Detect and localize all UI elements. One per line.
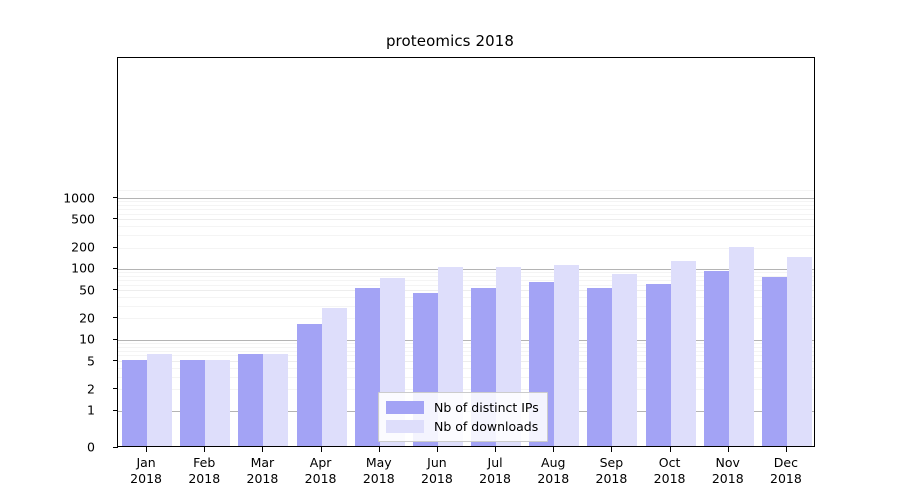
y-tick-label: 50 bbox=[79, 282, 95, 297]
bar-distinct-ips bbox=[704, 271, 729, 446]
bar-downloads bbox=[554, 265, 579, 446]
x-tick-month: Oct bbox=[659, 455, 681, 470]
bar-downloads bbox=[612, 274, 637, 446]
x-tick-month: Feb bbox=[193, 455, 215, 470]
gridline-minor bbox=[118, 235, 814, 236]
bar-downloads bbox=[729, 247, 754, 446]
x-tick-year: 2018 bbox=[537, 471, 569, 486]
x-tick-mark bbox=[728, 447, 729, 452]
x-tick-mark bbox=[321, 447, 322, 452]
x-tick-label: May2018 bbox=[363, 455, 395, 487]
x-tick-mark bbox=[786, 447, 787, 452]
x-tick-year: 2018 bbox=[421, 471, 453, 486]
bar-downloads bbox=[205, 360, 230, 446]
x-tick-label: Feb2018 bbox=[188, 455, 220, 487]
x-tick-mark bbox=[204, 447, 205, 452]
x-tick-month: Jun bbox=[427, 455, 447, 470]
x-tick-label: Oct2018 bbox=[654, 455, 686, 487]
x-tick-label: Mar2018 bbox=[247, 455, 279, 487]
x-tick-label: Apr2018 bbox=[305, 455, 337, 487]
x-tick-month: Jul bbox=[488, 455, 503, 470]
legend-swatch-ips bbox=[386, 401, 424, 414]
x-tick-month: Nov bbox=[716, 455, 740, 470]
legend-label: Nb of distinct IPs bbox=[434, 400, 539, 415]
x-tick-mark bbox=[146, 447, 147, 452]
gridline-minor bbox=[118, 205, 814, 206]
x-tick-year: 2018 bbox=[130, 471, 162, 486]
legend-item: Nb of downloads bbox=[386, 417, 539, 436]
bar-downloads bbox=[671, 261, 696, 446]
bar-downloads bbox=[322, 308, 347, 446]
gridline-minor bbox=[118, 190, 814, 191]
x-tick-year: 2018 bbox=[305, 471, 337, 486]
gridline-minor bbox=[118, 201, 814, 202]
gridline-minor bbox=[118, 219, 814, 220]
x-tick-mark bbox=[670, 447, 671, 452]
y-tick-label: 5 bbox=[87, 353, 95, 368]
bar-distinct-ips bbox=[646, 284, 671, 446]
bar-downloads bbox=[787, 257, 812, 446]
bar-distinct-ips bbox=[587, 288, 612, 446]
bar-downloads bbox=[147, 354, 172, 446]
y-tick-label: 500 bbox=[71, 211, 95, 226]
x-tick-year: 2018 bbox=[188, 471, 220, 486]
x-tick-mark bbox=[379, 447, 380, 452]
chart-title: proteomics 2018 bbox=[0, 32, 900, 50]
x-tick-label: Jun2018 bbox=[421, 455, 453, 487]
chart-figure: proteomics 2018 10005002001005020105210 … bbox=[0, 0, 900, 500]
x-tick-month: Dec bbox=[774, 455, 798, 470]
legend-item: Nb of distinct IPs bbox=[386, 398, 539, 417]
y-tick-label: 1000 bbox=[63, 190, 95, 205]
x-tick-label: Nov2018 bbox=[712, 455, 744, 487]
x-tick-label: Dec2018 bbox=[770, 455, 802, 487]
x-tick-month: Aug bbox=[541, 455, 565, 470]
x-tick-month: Jan bbox=[136, 455, 155, 470]
x-tick-month: May bbox=[366, 455, 392, 470]
y-tick-label: 20 bbox=[79, 310, 95, 325]
y-tick-label: 0 bbox=[87, 440, 95, 455]
legend-label: Nb of downloads bbox=[434, 419, 538, 434]
bar-downloads bbox=[263, 354, 288, 446]
y-tick-label: 1 bbox=[87, 403, 95, 418]
x-tick-mark bbox=[611, 447, 612, 452]
bar-distinct-ips bbox=[238, 354, 263, 446]
x-tick-label: Aug2018 bbox=[537, 455, 569, 487]
gridline-major bbox=[118, 198, 814, 199]
y-tick-label: 200 bbox=[71, 240, 95, 255]
x-tick-mark bbox=[495, 447, 496, 452]
gridline-minor bbox=[118, 214, 814, 215]
bar-distinct-ips bbox=[180, 360, 205, 446]
bar-distinct-ips bbox=[355, 288, 380, 446]
x-tick-mark bbox=[262, 447, 263, 452]
x-tick-year: 2018 bbox=[363, 471, 395, 486]
plot-area bbox=[117, 57, 815, 447]
x-tick-mark bbox=[553, 447, 554, 452]
x-tick-year: 2018 bbox=[654, 471, 686, 486]
x-tick-label: Sep2018 bbox=[596, 455, 628, 487]
x-tick-mark bbox=[437, 447, 438, 452]
x-tick-year: 2018 bbox=[596, 471, 628, 486]
gridline-minor bbox=[118, 209, 814, 210]
bar-distinct-ips bbox=[122, 360, 147, 446]
legend-swatch-dls bbox=[386, 420, 424, 433]
x-tick-year: 2018 bbox=[247, 471, 279, 486]
x-tick-year: 2018 bbox=[479, 471, 511, 486]
bar-distinct-ips bbox=[762, 277, 787, 446]
bar-distinct-ips bbox=[297, 324, 322, 446]
x-tick-label: Jan2018 bbox=[130, 455, 162, 487]
y-tick-label: 100 bbox=[71, 261, 95, 276]
gridline-minor bbox=[118, 226, 814, 227]
x-tick-month: Apr bbox=[310, 455, 332, 470]
y-tick-label: 10 bbox=[79, 332, 95, 347]
x-tick-label: Jul2018 bbox=[479, 455, 511, 487]
gridline-minor bbox=[118, 248, 814, 249]
x-tick-year: 2018 bbox=[770, 471, 802, 486]
y-tick-label: 2 bbox=[87, 381, 95, 396]
x-tick-month: Sep bbox=[600, 455, 624, 470]
x-tick-year: 2018 bbox=[712, 471, 744, 486]
chart-legend: Nb of distinct IPsNb of downloads bbox=[378, 392, 548, 442]
x-tick-month: Mar bbox=[251, 455, 275, 470]
